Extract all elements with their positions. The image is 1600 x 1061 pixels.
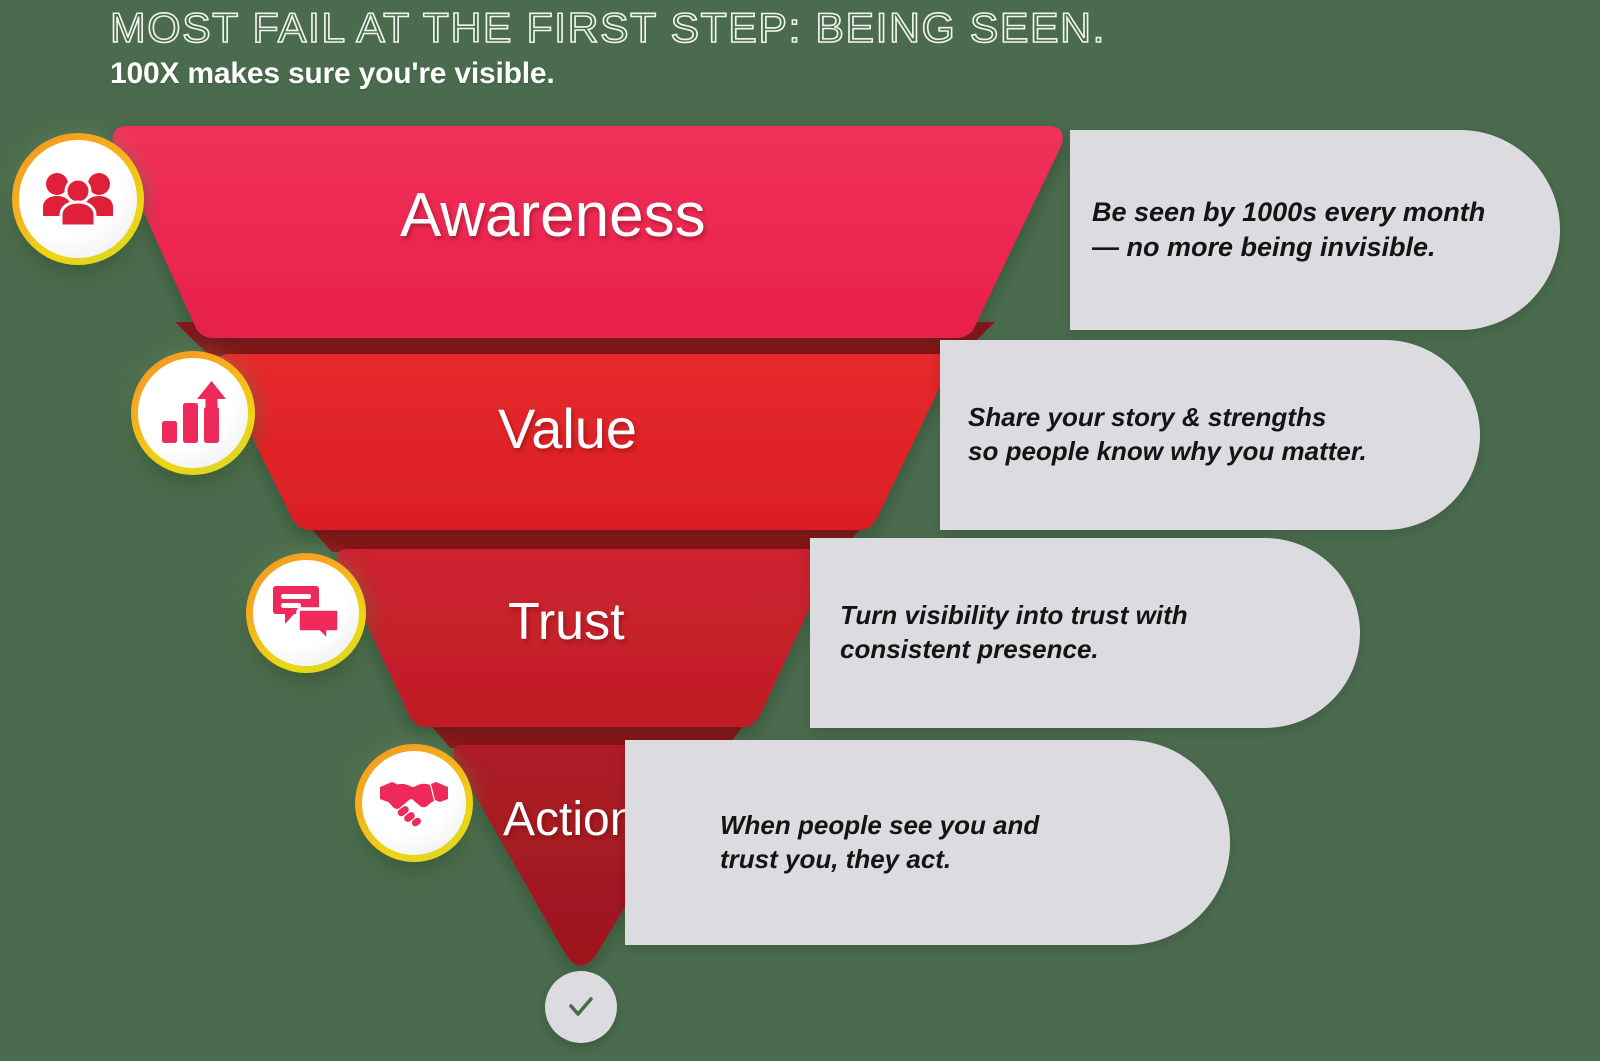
stage-badge-value[interactable] [131, 351, 255, 475]
funnel-stage-label-action: Action [503, 792, 636, 847]
stage-description-panel-action: When people see you and trust you, they … [625, 740, 1230, 945]
infographic-canvas: MOST FAIL AT THE FIRST STEP: BEING SEEN.… [0, 0, 1600, 1061]
stage-description-panel-value: Share your story & strengths so people k… [940, 340, 1480, 530]
stage-description-text: Share your story & strengths so people k… [968, 401, 1367, 469]
funnel-stage-label-value: Value [498, 396, 637, 461]
stage-badge-trust[interactable] [246, 553, 366, 673]
stage-description-text: When people see you and trust you, they … [720, 809, 1039, 877]
chat-bubbles-icon [253, 560, 359, 666]
people-group-icon [19, 140, 137, 258]
stage-description-panel-awareness: Be seen by 1000s every month — no more b… [1070, 130, 1560, 330]
stage-description-text: Be seen by 1000s every month — no more b… [1092, 195, 1485, 265]
stage-description-text: Turn visibility into trust with consiste… [840, 599, 1188, 667]
stage-badge-awareness[interactable] [12, 133, 144, 265]
stage-description-panel-trust: Turn visibility into trust with consiste… [810, 538, 1360, 728]
funnel-stage-label-awareness: Awareness [400, 180, 706, 251]
stage-badge-action[interactable] [355, 744, 473, 862]
funnel-stage-label-trust: Trust [508, 592, 625, 652]
handshake-icon [362, 751, 466, 855]
check-circle-icon [545, 971, 617, 1043]
growth-chart-icon [138, 358, 248, 468]
